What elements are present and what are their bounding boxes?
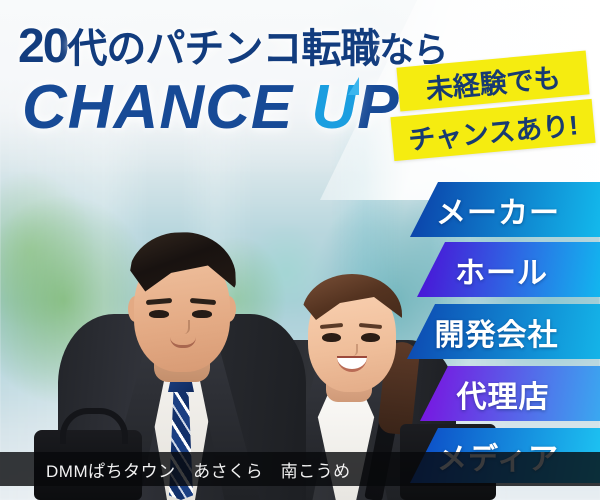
woman-eye-left	[322, 333, 341, 342]
woman-nose	[347, 344, 358, 356]
man-eye-right	[192, 310, 212, 318]
page-title: 20代のパチンコ転職なら	[18, 16, 447, 74]
category-label-hall: ホール	[417, 248, 586, 292]
brand-logo: CHANCE UP	[22, 72, 400, 143]
category-label-developer: 開発会社	[407, 310, 586, 354]
headline-number: 20	[18, 20, 67, 73]
category-label-maker: メーカー	[410, 188, 586, 232]
logo-letter-u: U	[311, 73, 357, 142]
category-button-maker[interactable]: メーカー	[410, 182, 600, 237]
category-button-agency[interactable]: 代理店	[420, 366, 600, 421]
credit-bar: DMMぱちタウン あさくら 南こうめ	[0, 452, 600, 486]
man-nose	[178, 320, 190, 334]
category-label-agency: 代理店	[420, 372, 586, 416]
man-eye-left	[149, 310, 169, 318]
category-button-developer[interactable]: 開発会社	[407, 304, 600, 359]
credit-text: DMMぱちタウン あさくら 南こうめ	[0, 457, 351, 482]
logo-word-chance: CHANCE	[22, 73, 293, 142]
woman-eye-right	[361, 333, 380, 342]
advertisement-banner[interactable]: 20代のパチンコ転職なら CHANCE UP 未経験でも チャンスあり! メーカ…	[0, 0, 600, 500]
headline-main: 代のパチンコ転職	[67, 27, 379, 71]
category-button-hall[interactable]: ホール	[417, 242, 600, 297]
